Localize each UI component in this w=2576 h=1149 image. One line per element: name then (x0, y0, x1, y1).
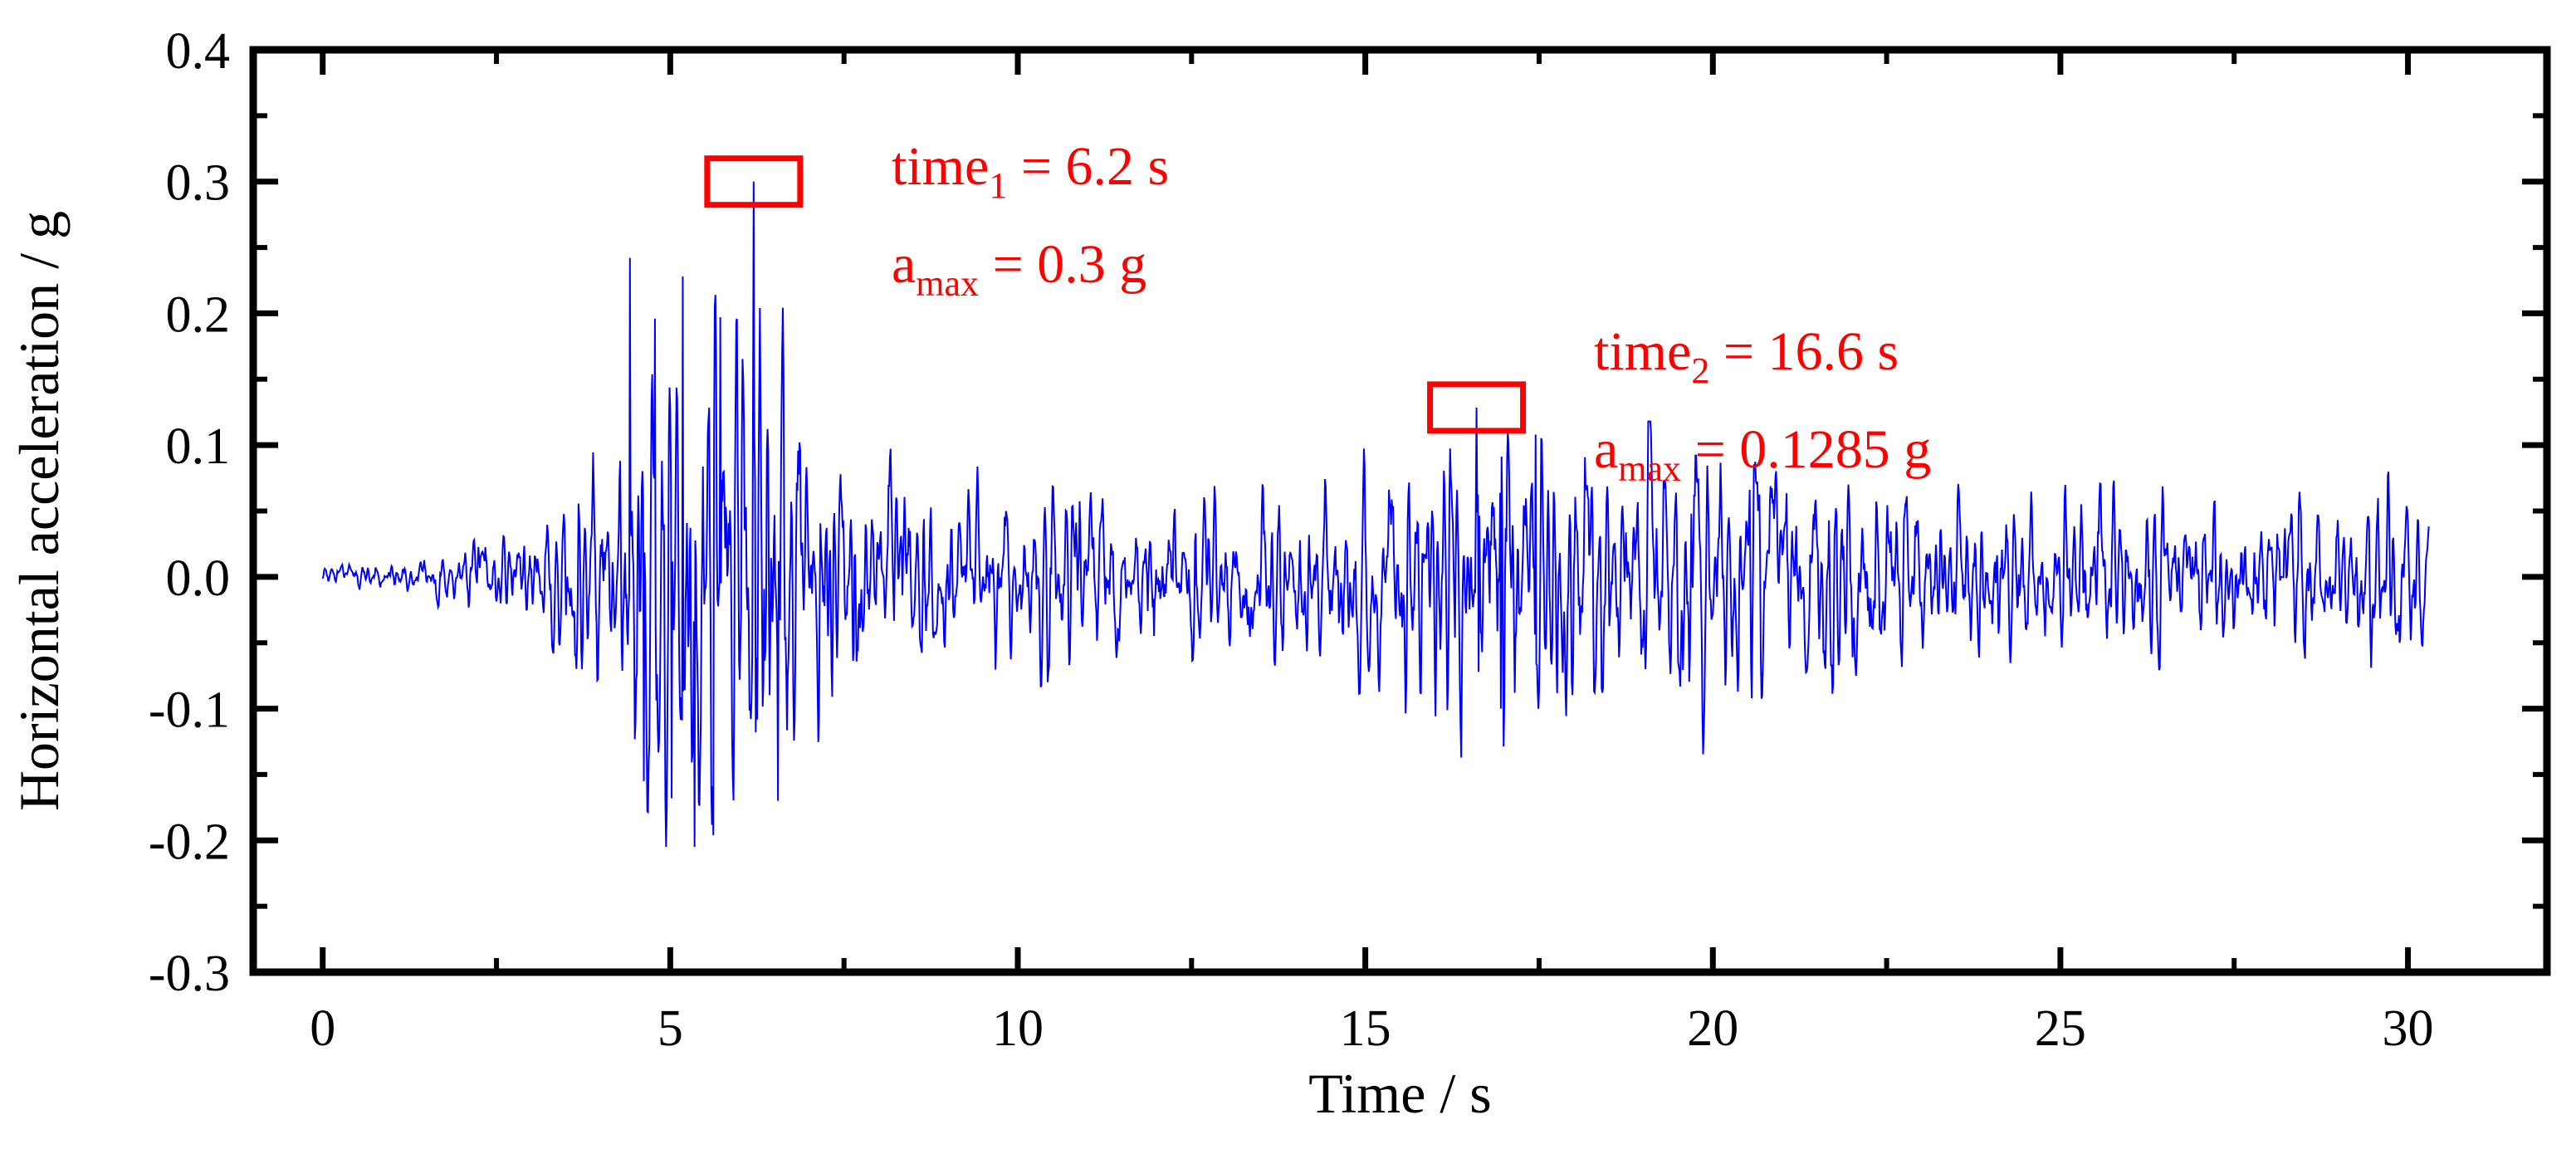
x-axis-title: Time / s (1308, 1062, 1491, 1125)
x-tick-label: 30 (2383, 1000, 2434, 1057)
x-tick-label: 5 (657, 1000, 683, 1057)
y-axis-title: Horizontal acceleration / g (7, 211, 71, 811)
x-tick-label: 0 (310, 1000, 335, 1057)
chart-page: 051015202530-0.3-0.2-0.10.00.10.20.30.4 … (0, 0, 2576, 1149)
x-tick-label: 20 (1687, 1000, 1738, 1057)
y-tick-label: -0.3 (149, 946, 230, 1002)
x-tick-label: 25 (2035, 1000, 2086, 1057)
y-tick-label: 0.4 (166, 23, 231, 80)
peak-time-label: time1 = 6.2 s (892, 136, 1169, 206)
y-tick-label: 0.1 (166, 418, 231, 475)
chart-background (0, 0, 2576, 1149)
x-tick-label: 10 (992, 1000, 1044, 1057)
y-tick-label: 0.0 (166, 550, 231, 607)
y-tick-label: 0.3 (166, 155, 231, 212)
peak-time-label: time2 = 16.6 s (1594, 321, 1899, 391)
y-tick-label: -0.1 (149, 682, 230, 739)
acceleration-time-history-chart: 051015202530-0.3-0.2-0.10.00.10.20.30.4 … (0, 0, 2576, 1149)
y-tick-label: 0.2 (166, 286, 231, 343)
y-tick-label: -0.2 (149, 814, 230, 870)
x-tick-label: 15 (1340, 1000, 1391, 1057)
